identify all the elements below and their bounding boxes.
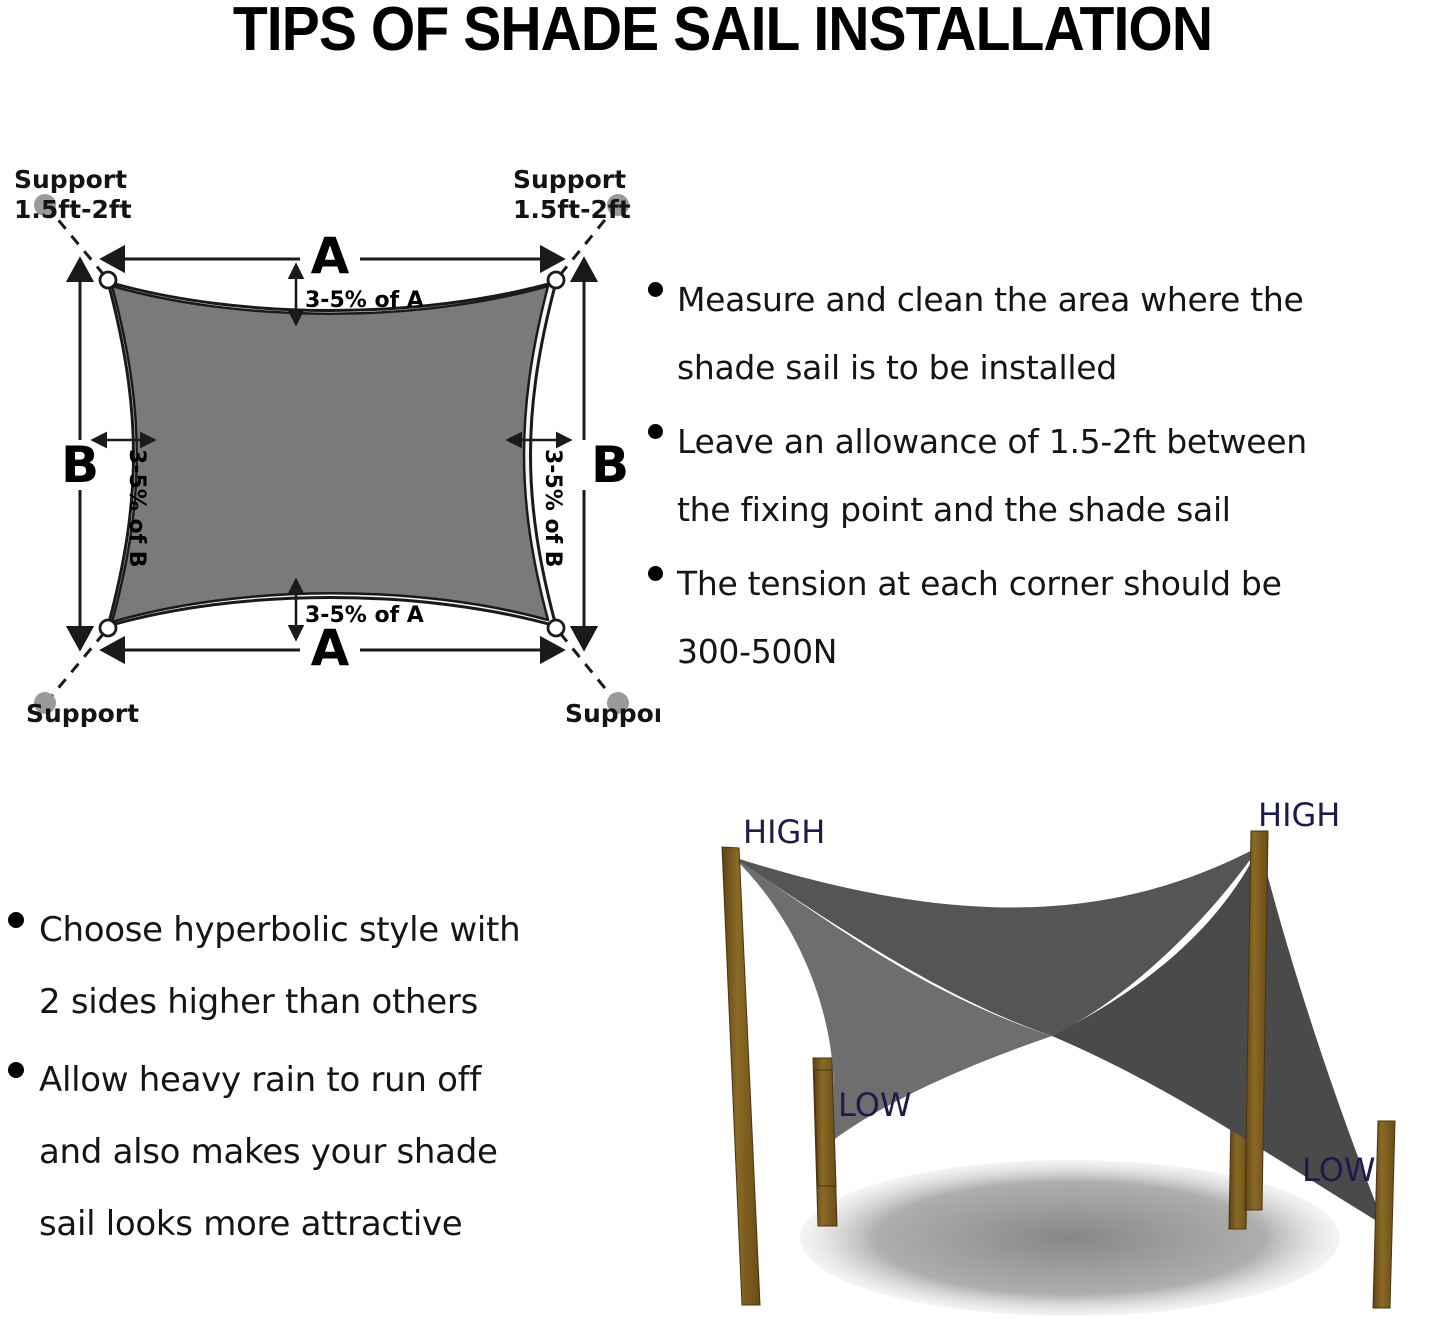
bullet-icon: [8, 912, 24, 928]
dimension-label-a-top: A: [311, 227, 350, 285]
svg-text:1.5ft-2ft: 1.5ft-2ft: [513, 195, 631, 224]
sail-shape: [108, 282, 556, 626]
tip-item-1-text: Measure and clean the area where theshad…: [677, 266, 1303, 402]
svg-text:1.5ft-2ft: 1.5ft-2ft: [565, 729, 660, 730]
hyper-tip-item-2: Allow heavy rain to run offand also make…: [8, 1044, 628, 1260]
dimension-label-b-right: B: [591, 436, 629, 494]
tip-item-1: Measure and clean the area where theshad…: [648, 266, 1445, 402]
hyperbolic-sail-illustration: HIGH HIGH LOW LOW: [650, 786, 1445, 1319]
svg-text:1.5ft-2ft: 1.5ft-2ft: [14, 195, 132, 224]
svg-text:Support: Support: [26, 699, 139, 728]
support-label-top-right: Support 1.5ft-2ft: [513, 165, 631, 224]
post-low-front-left: [814, 1070, 836, 1186]
post-low-front-right: [1373, 1121, 1395, 1308]
tip-item-3-text: The tension at each corner should be300-…: [677, 550, 1282, 686]
svg-text:Support: Support: [513, 165, 626, 194]
support-label-top-left: Support 1.5ft-2ft: [14, 165, 132, 224]
bullet-icon: [8, 1062, 24, 1078]
hyperbolic-tips-list: Choose hyperbolic style with2 sides high…: [8, 894, 628, 1266]
svg-text:Support: Support: [565, 699, 660, 728]
hyper-tip-item-2-text: Allow heavy rain to run offand also make…: [39, 1044, 498, 1260]
label-low-right: LOW: [1302, 1151, 1376, 1189]
label-high-left: HIGH: [743, 813, 825, 851]
hyper-tip-item-1-text: Choose hyperbolic style with2 sides high…: [39, 894, 520, 1038]
bullet-icon: [648, 282, 663, 297]
bullet-icon: [648, 424, 663, 439]
page-title: TIPS OF SHADE SAIL INSTALLATION: [58, 0, 1387, 65]
post-high-left: [722, 847, 760, 1305]
support-label-bottom-right: Support 1.5ft-2ft: [565, 699, 660, 730]
curve-label-left: 3-5% of B: [124, 449, 149, 568]
tip-item-2-text: Leave an allowance of 1.5-2ft betweenthe…: [677, 408, 1307, 544]
tip-item-3: The tension at each corner should be300-…: [648, 550, 1445, 686]
rectangular-sail-diagram: A 3-5% of A A 3-5% of A B: [0, 160, 660, 730]
tip-item-2: Leave an allowance of 1.5-2ft betweenthe…: [648, 408, 1445, 544]
label-low-left: LOW: [838, 1086, 912, 1124]
infographic-page: TIPS OF SHADE SAIL INSTALLATION: [0, 0, 1445, 1319]
dimension-label-b-left: B: [61, 436, 99, 494]
curve-label-right: 3-5% of B: [540, 449, 565, 568]
svg-text:Support: Support: [14, 165, 127, 194]
label-high-right: HIGH: [1258, 796, 1340, 834]
hyper-tip-item-1: Choose hyperbolic style with2 sides high…: [8, 894, 628, 1038]
installation-tips-list: Measure and clean the area where theshad…: [648, 266, 1445, 692]
bullet-icon: [648, 566, 663, 581]
svg-text:1.5ft-2ft: 1.5ft-2ft: [26, 729, 144, 730]
curve-label-bottom: 3-5% of A: [305, 603, 424, 628]
curve-label-top: 3-5% of A: [305, 288, 424, 313]
support-label-bottom-left: Support 1.5ft-2ft: [26, 699, 144, 730]
